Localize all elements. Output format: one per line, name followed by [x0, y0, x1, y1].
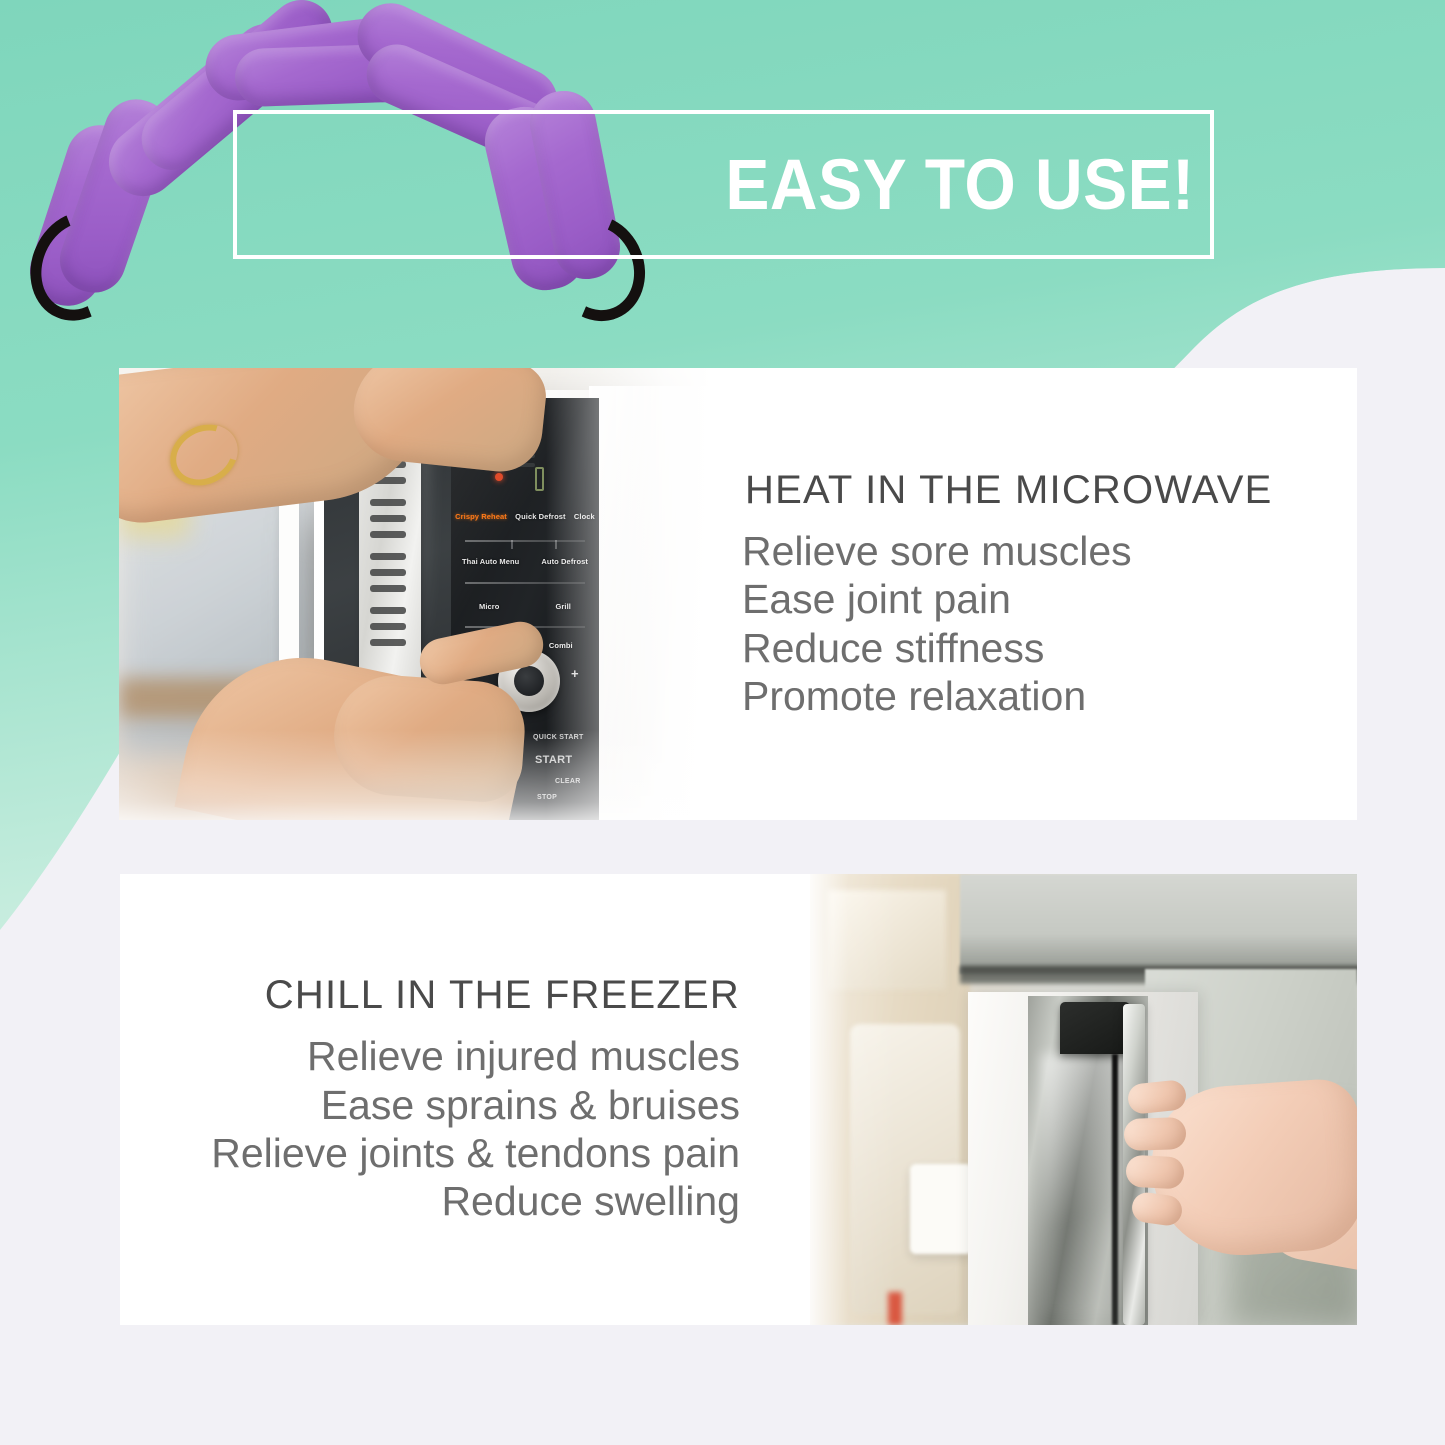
lower-hand-knuckles [330, 672, 528, 805]
dial-plus-icon[interactable]: + [571, 666, 579, 681]
panel-tick-2 [555, 540, 557, 549]
freezer-door-seam [1112, 1054, 1118, 1325]
benefit-item: Ease joint pain [742, 575, 1132, 623]
panel-button-row-2[interactable]: Thai Auto Menu Auto Defrost [451, 558, 599, 567]
button-combi[interactable]: Combi [549, 642, 573, 651]
microwave-photo: Crispy Reheat Quick Defrost Clock Thai A… [119, 368, 712, 820]
button-crispy-reheat[interactable]: Crispy Reheat [455, 513, 507, 522]
white-container [910, 1164, 972, 1254]
section-card-chill: CHILL IN THE FREEZER Relieve injured mus… [120, 874, 1357, 1325]
benefit-item: Reduce stiffness [742, 624, 1132, 672]
freezer-photo [810, 874, 1357, 1325]
label-stop[interactable]: STOP [537, 794, 557, 801]
heading-chill: CHILL IN THE FREEZER [265, 973, 740, 1018]
heat-text-block: HEAT IN THE MICROWAVE Relieve sore muscl… [712, 368, 1357, 820]
panel-button-row-3[interactable]: Micro Grill [451, 603, 599, 612]
panel-divider-1 [465, 540, 585, 542]
panel-button-row-1[interactable]: Crispy Reheat Quick Defrost Clock [451, 513, 599, 522]
button-clock[interactable]: Clock [574, 513, 595, 522]
benefit-item: Relieve joints & tendons pain [211, 1129, 740, 1177]
benefits-list-chill: Relieve injured muscles Ease sprains & b… [211, 1032, 740, 1226]
benefit-item: Relieve sore muscles [742, 527, 1132, 575]
button-thai-auto-menu[interactable]: Thai Auto Menu [462, 558, 519, 567]
button-auto-defrost[interactable]: Auto Defrost [541, 558, 588, 567]
hand-opening-freezer [1122, 1024, 1357, 1324]
benefit-item: Reduce swelling [211, 1177, 740, 1225]
microwave-right-side [589, 386, 712, 820]
label-clear[interactable]: CLEAR [555, 778, 581, 785]
benefit-item: Promote relaxation [742, 672, 1132, 720]
button-quick-defrost[interactable]: Quick Defrost [515, 513, 565, 522]
refrigerator-top [960, 874, 1357, 974]
button-grill[interactable]: Grill [555, 603, 571, 612]
freezer-handle-bracket [1060, 1002, 1130, 1054]
fingers [1122, 1024, 1242, 1324]
chill-text-block: CHILL IN THE FREEZER Relieve injured mus… [120, 874, 810, 1325]
label-start[interactable]: START [535, 754, 572, 766]
label-quick-start[interactable]: QUICK START [533, 734, 584, 741]
benefit-item: Ease sprains & bruises [211, 1081, 740, 1129]
led-segment-icon [535, 467, 544, 491]
panel-divider-2 [465, 582, 585, 584]
panel-tick-1 [511, 540, 513, 549]
red-object [888, 1292, 902, 1325]
benefits-list-heat: Relieve sore muscles Ease joint pain Red… [742, 527, 1132, 721]
page-title: EASY TO USE! [718, 140, 1202, 230]
benefit-item: Relieve injured muscles [211, 1032, 740, 1080]
cabinet-shelf [828, 890, 946, 990]
section-card-heat: Crispy Reheat Quick Defrost Clock Thai A… [119, 368, 1357, 820]
button-micro[interactable]: Micro [479, 603, 500, 612]
heading-heat: HEAT IN THE MICROWAVE [745, 468, 1272, 513]
led-indicator-icon [495, 473, 503, 481]
